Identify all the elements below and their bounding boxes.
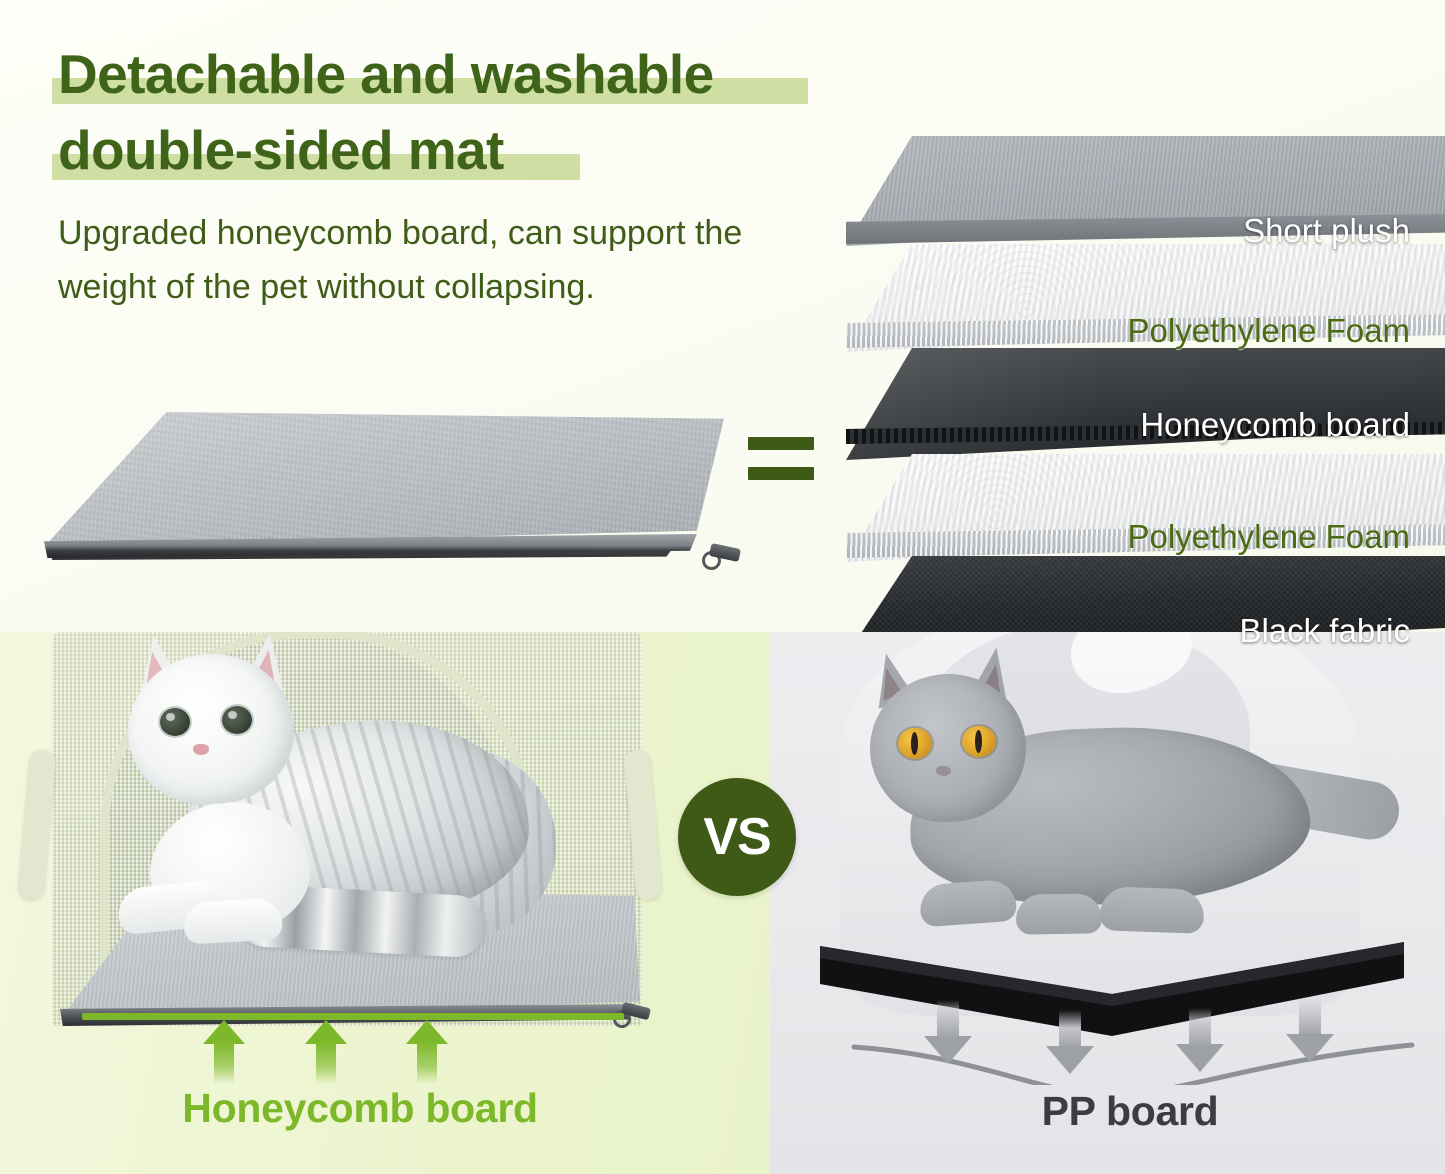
layer-label-1: Polyethylene Foam [1128, 312, 1410, 350]
label-honeycomb-board: Honeycomb board [80, 1085, 640, 1132]
carrier-handle-left [18, 749, 57, 901]
layer-label-4: Black fabric [1239, 612, 1410, 650]
layer-label-2: Honeycomb board [1140, 406, 1410, 444]
vs-badge: VS [678, 778, 796, 896]
assembled-mat-illustration [14, 398, 774, 598]
up-arrow-icon-3 [406, 1020, 448, 1082]
headline-line-2: double-sided mat [58, 112, 858, 188]
label-pp-board: PP board [850, 1088, 1410, 1135]
layer-stack-diagram: Short plush Polyethylene Foam Honeycomb … [846, 136, 1445, 576]
infographic-page: Detachable and washable double-sided mat… [0, 0, 1445, 1174]
layer-honeycomb-board: Honeycomb board [846, 348, 1445, 460]
mat-plush-surface [44, 412, 724, 547]
up-arrow-icon-2 [305, 1020, 347, 1082]
headline-line-1-text: Detachable and washable [58, 43, 714, 105]
headline-line-1: Detachable and washable [58, 36, 858, 112]
equals-sign [748, 437, 820, 491]
layer-polyethylene-foam-bottom: Polyethylene Foam [846, 454, 1445, 562]
vs-badge-text: VS [703, 811, 770, 863]
layer-label-0: Short plush [1243, 212, 1410, 250]
down-arrow-icon-2 [1046, 1010, 1094, 1076]
down-arrow-icon-3 [1176, 1008, 1224, 1074]
layer-short-plush: Short plush [846, 136, 1445, 246]
layer-label-3: Polyethylene Foam [1128, 518, 1410, 556]
headline: Detachable and washable double-sided mat [58, 36, 858, 188]
subtitle: Upgraded honeycomb board, can support th… [58, 206, 818, 314]
down-arrow-icon-4 [1286, 998, 1334, 1064]
flat-support-line [82, 1013, 624, 1020]
layer-polyethylene-foam-top: Polyethylene Foam [846, 244, 1445, 352]
headline-line-2-text: double-sided mat [58, 119, 504, 181]
zipper-pull-icon [700, 544, 744, 570]
down-arrow-icon-1 [924, 1000, 972, 1066]
top-section: Detachable and washable double-sided mat… [0, 0, 1445, 632]
up-arrow-icon-1 [203, 1020, 245, 1082]
